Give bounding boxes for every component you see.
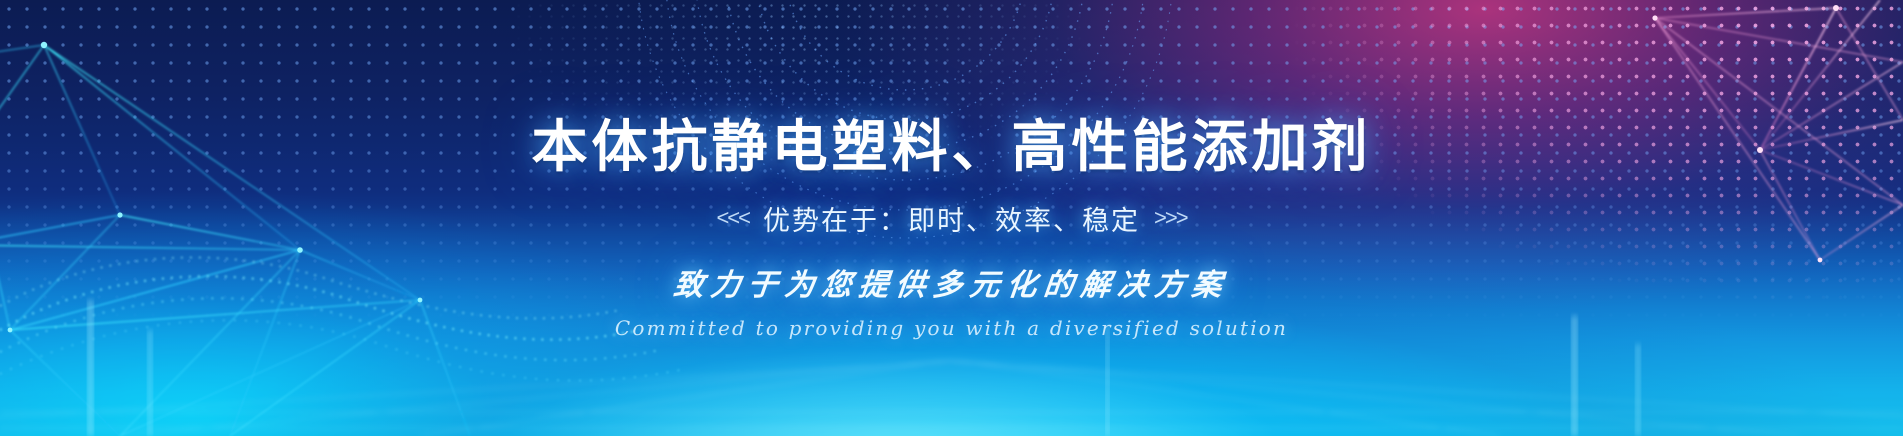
- banner-slogan-cn: 致力于为您提供多元化的解决方案: [672, 260, 1232, 304]
- hero-banner: 本体抗静电塑料、高性能添加剂 <<< 优势在于：即时、效率、稳定 >>> 致力于…: [0, 0, 1903, 436]
- chevron-right-icon: >>>: [1154, 205, 1187, 231]
- banner-title: 本体抗静电塑料、高性能添加剂: [532, 118, 1372, 177]
- chevron-left-icon: <<<: [716, 205, 749, 231]
- banner-subtitle-text: 优势在于：即时、效率、稳定: [763, 199, 1140, 238]
- banner-content: 本体抗静电塑料、高性能添加剂 <<< 优势在于：即时、效率、稳定 >>> 致力于…: [0, 0, 1903, 436]
- banner-subtitle: <<< 优势在于：即时、效率、稳定 >>>: [716, 199, 1186, 238]
- banner-slogan-en: Committed to providing you with a divers…: [615, 316, 1288, 340]
